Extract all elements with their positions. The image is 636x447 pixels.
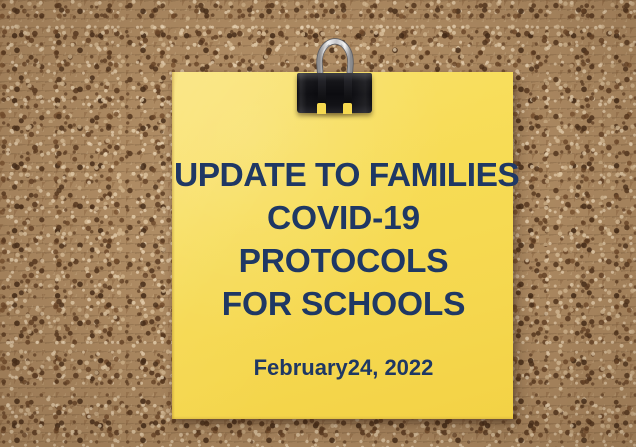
notice-date: February24, 2022 bbox=[174, 357, 513, 379]
headline-line-2: COVID-19 bbox=[174, 202, 513, 236]
headline-line-1: UPDATE TO FAMILIES bbox=[174, 159, 513, 193]
binder-clip-cutout-left bbox=[317, 103, 326, 114]
binder-clip-notch-left bbox=[318, 73, 326, 113]
binder-clip-body bbox=[297, 73, 372, 113]
yellow-sticky-note[interactable]: UPDATE TO FAMILIES COVID-19 PROTOCOLS FO… bbox=[172, 72, 513, 419]
binder-clip-cutout-right bbox=[343, 103, 352, 114]
note-bottom-edge-shadow bbox=[172, 416, 513, 419]
binder-clip-notch-right bbox=[344, 73, 352, 113]
binder-clip[interactable] bbox=[295, 38, 375, 118]
notice-board-scene: UPDATE TO FAMILIES COVID-19 PROTOCOLS FO… bbox=[0, 0, 636, 447]
headline-line-3: PROTOCOLS bbox=[174, 245, 513, 279]
binder-clip-highlight bbox=[297, 73, 372, 113]
headline-line-4: FOR SCHOOLS bbox=[174, 288, 513, 322]
